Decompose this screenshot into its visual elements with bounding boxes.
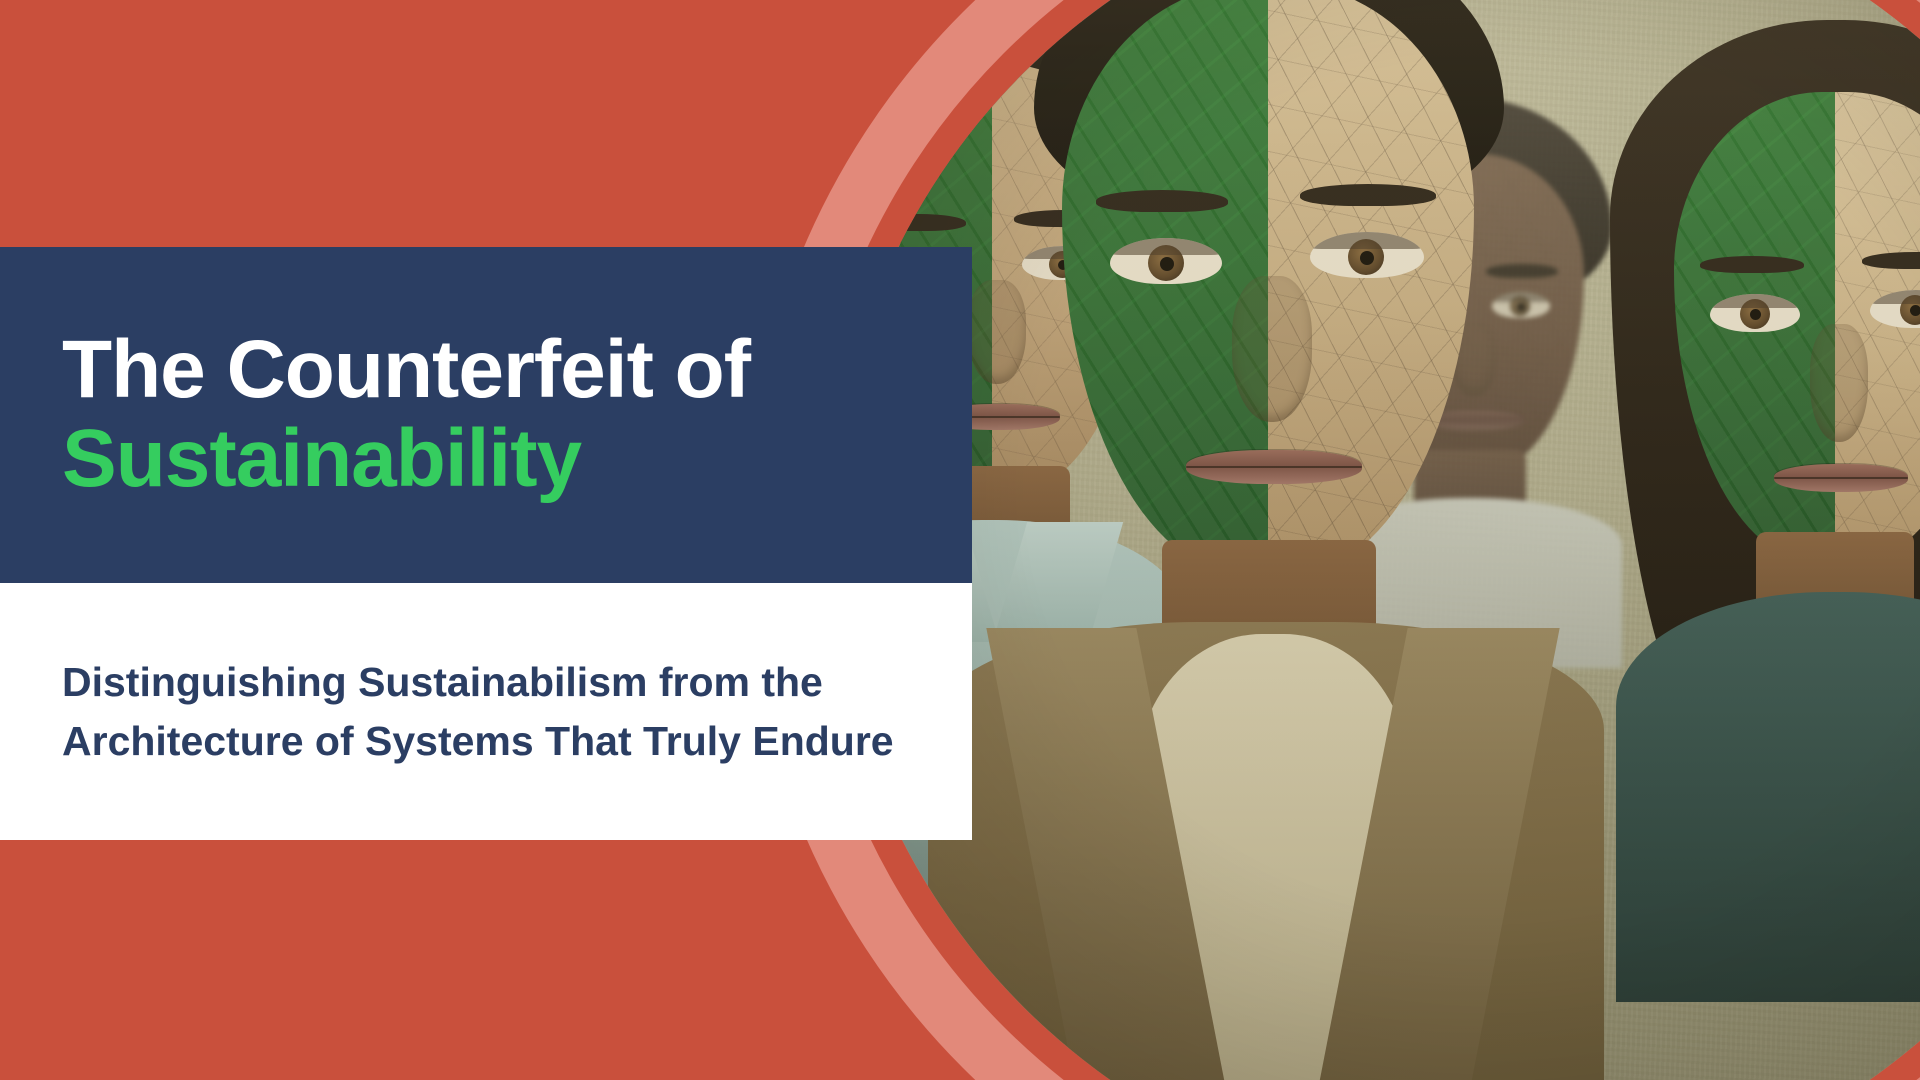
face: [1674, 92, 1920, 562]
mouth-line: [1186, 466, 1362, 468]
left-eye: [1110, 238, 1222, 284]
poster-canvas: The Counterfeit of Sustainability Distin…: [0, 0, 1920, 1080]
left-brow: [1096, 190, 1228, 212]
left-eye: [1710, 294, 1800, 332]
right-pupil: [1910, 305, 1920, 316]
left-brow: [870, 214, 966, 231]
right-pupil: [1360, 251, 1374, 265]
portrait-photo-circle: [830, 0, 1920, 1080]
top-garment: [1616, 592, 1920, 1002]
subject-woman-right: [1600, 20, 1920, 1000]
title-panel: The Counterfeit of Sustainability: [0, 247, 972, 583]
left-eyelid: [1710, 294, 1800, 308]
title-line-1: The Counterfeit of: [62, 326, 972, 415]
left-pupil: [1750, 309, 1761, 320]
face-green-half: [1062, 0, 1268, 574]
right-brow: [1300, 184, 1436, 206]
mouth-line: [1774, 477, 1908, 479]
right-eyelid: [1310, 232, 1424, 249]
green-paint-texture: [1062, 0, 1268, 574]
subtitle-panel: Distinguishing Sustainabilism from the A…: [0, 583, 972, 840]
nose: [1810, 324, 1868, 442]
left-pupil: [1160, 257, 1174, 271]
subtitle-text: Distinguishing Sustainabilism from the A…: [62, 653, 952, 769]
right-eyelid: [1870, 290, 1920, 304]
title-line-2-accent: Sustainability: [62, 415, 972, 504]
left-eyelid: [1110, 238, 1222, 255]
face: [1062, 0, 1474, 574]
left-brow: [1700, 256, 1804, 273]
right-eye: [1310, 232, 1424, 278]
photo-backdrop: [830, 0, 1920, 1080]
subject-man-center-foreground: [986, 0, 1546, 1080]
nose: [1232, 276, 1312, 422]
